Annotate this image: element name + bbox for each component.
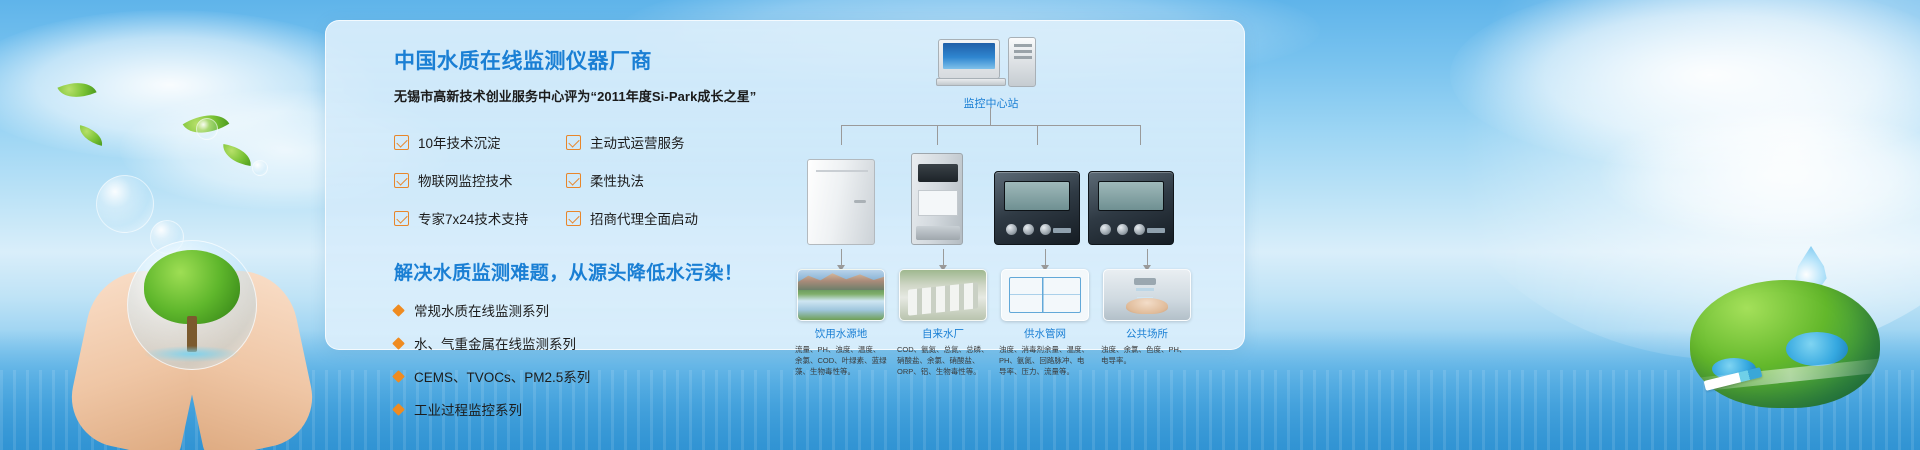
- feature-item[interactable]: 物联网监控技术: [394, 170, 566, 190]
- scene-card-title: 自来水厂: [899, 326, 987, 341]
- product-series-list: 常规水质在线监测系列 水、气重金属在线监测系列 CEMS、TVOCs、PM2.5…: [394, 300, 754, 419]
- section-title-solution: 解决水质监测难题，从源头降低水污染！: [394, 258, 754, 285]
- water-analyzer-icon: [911, 153, 963, 245]
- device-node[interactable]: [1085, 171, 1177, 245]
- controller-logo: [1147, 228, 1165, 233]
- analyzer-base: [916, 226, 960, 240]
- checkbox-icon: [566, 173, 581, 188]
- leaves-icon: [183, 103, 230, 145]
- connector-drop: [841, 125, 842, 145]
- scene-card[interactable]: 饮用水源地 流量、PH、浊度、温度、余氯、COD、叶绿素、蓝绿藻、生物毒性等。: [797, 269, 885, 378]
- scene-card-title: 供水管网: [1001, 326, 1089, 341]
- checkbox-icon: [394, 173, 409, 188]
- tree-base-water: [144, 346, 240, 362]
- checkbox-icon: [566, 211, 581, 226]
- feature-label: 专家7x24技术支持: [418, 208, 528, 228]
- controller-buttons: [1006, 224, 1051, 235]
- device-node[interactable]: [991, 171, 1083, 245]
- cloud-decoration: [0, 10, 380, 160]
- list-item-label: CEMS、TVOCs、PM2.5系列: [414, 366, 590, 386]
- leaves-icon: [221, 144, 253, 166]
- connector-drop: [1140, 125, 1141, 145]
- monitor-screen: [943, 43, 995, 69]
- checkbox-icon: [394, 211, 409, 226]
- list-item-label: 常规水质在线监测系列: [414, 300, 549, 320]
- device-node[interactable]: [803, 159, 879, 245]
- feature-label: 柔性执法: [590, 170, 644, 190]
- controller-buttons: [1100, 224, 1145, 235]
- feature-checklist: 10年技术沉淀 主动式运营服务 物联网监控技术 柔性执法 专家7x24技术支持 …: [394, 132, 754, 228]
- list-item[interactable]: CEMS、TVOCs、PM2.5系列: [394, 366, 754, 386]
- feature-label: 物联网监控技术: [418, 170, 513, 190]
- checkbox-icon: [394, 135, 409, 150]
- earth-lake: [1786, 332, 1848, 366]
- green-earth-icon: [1690, 258, 1880, 408]
- scene-card-title: 饮用水源地: [797, 326, 885, 341]
- feature-label: 招商代理全面启动: [590, 208, 698, 228]
- page-subtitle: 无锡市高新技术创业服务中心评为“2011年度Si-Park成长之星”: [394, 86, 754, 105]
- controller-lcd: [1098, 181, 1164, 211]
- monitoring-center-node[interactable]: 监控中心站: [931, 37, 1051, 111]
- feature-item[interactable]: 柔性执法: [566, 170, 756, 190]
- feature-item[interactable]: 主动式运营服务: [566, 132, 756, 152]
- bubbles-icon: [196, 118, 218, 140]
- leaves-icon: [77, 125, 106, 146]
- monitoring-center-label: 监控中心站: [931, 95, 1051, 111]
- feature-item[interactable]: 招商代理全面启动: [566, 208, 756, 228]
- feature-label: 10年技术沉淀: [418, 132, 501, 152]
- leaves-icon: [57, 74, 96, 106]
- connector-horizontal: [841, 125, 1140, 126]
- cloud-decoration: [1450, 0, 1920, 170]
- tap-water-photo-icon: [1103, 269, 1191, 321]
- bubbles-icon: [252, 160, 268, 176]
- controller-lcd: [1004, 181, 1070, 211]
- checkbox-icon: [566, 135, 581, 150]
- scene-card-desc: 流量、PH、浊度、温度、余氯、COD、叶绿素、蓝绿藻、生物毒性等。: [795, 345, 887, 378]
- device-node[interactable]: [899, 153, 975, 245]
- diamond-bullet-icon: [392, 304, 405, 317]
- feature-item[interactable]: 10年技术沉淀: [394, 132, 566, 152]
- scene-card[interactable]: 自来水厂 COD、氨氮、总氮、总磷、硝酸盐、余氯、硝酸盐、ORP、铝、生物毒性等…: [899, 269, 987, 378]
- river-photo-icon: [797, 269, 885, 321]
- scene-card-desc: 浊度、消毒剂余量、温度、PH、氨氮、回路脉冲、电导率、压力、流量等。: [999, 345, 1091, 378]
- diamond-bullet-icon: [392, 403, 405, 416]
- cloud-decoration: [1600, 110, 1920, 240]
- diamond-bullet-icon: [392, 337, 405, 350]
- list-item-label: 水、气重金属在线监测系列: [414, 333, 576, 353]
- tree-canopy: [144, 250, 240, 324]
- controller-unit-icon: [994, 171, 1080, 245]
- controller-logo: [1053, 228, 1071, 233]
- pipe-network-photo-icon: [1001, 269, 1089, 321]
- main-panel: 中国水质在线监测仪器厂商 无锡市高新技术创业服务中心评为“2011年度Si-Pa…: [325, 20, 1245, 350]
- connector-vertical: [990, 107, 991, 125]
- list-item[interactable]: 水、气重金属在线监测系列: [394, 333, 754, 353]
- scene-card[interactable]: 供水管网 浊度、消毒剂余量、温度、PH、氨氮、回路脉冲、电导率、压力、流量等。: [1001, 269, 1089, 378]
- scene-card-title: 公共场所: [1103, 326, 1191, 341]
- analyzer-display: [918, 164, 958, 182]
- keyboard-icon: [936, 78, 1006, 86]
- system-diagram: 监控中心站: [781, 37, 1221, 347]
- earth-body: [1690, 280, 1880, 408]
- controller-unit-icon: [1088, 171, 1174, 245]
- feature-item[interactable]: 专家7x24技术支持: [394, 208, 566, 228]
- connector-drop: [937, 125, 938, 145]
- scene-card[interactable]: 公共场所 浊度、余氯、色度、PH、电导率。: [1103, 269, 1191, 367]
- device-row: [781, 145, 1221, 245]
- scene-card-row: 饮用水源地 流量、PH、浊度、温度、余氯、COD、叶绿素、蓝绿藻、生物毒性等。 …: [781, 269, 1221, 349]
- list-item-label: 工业过程监控系列: [414, 399, 522, 419]
- diamond-bullet-icon: [392, 370, 405, 383]
- analyzer-panel: [918, 190, 958, 216]
- pc-tower-icon: [1008, 37, 1036, 87]
- list-item[interactable]: 工业过程监控系列: [394, 399, 754, 419]
- feature-label: 主动式运营服务: [590, 132, 685, 152]
- treatment-plant-photo-icon: [899, 269, 987, 321]
- scene-card-desc: COD、氨氮、总氮、总磷、硝酸盐、余氯、硝酸盐、ORP、铝、生物毒性等。: [897, 345, 989, 378]
- list-item[interactable]: 常规水质在线监测系列: [394, 300, 754, 320]
- scene-card-desc: 浊度、余氯、色度、PH、电导率。: [1101, 345, 1193, 367]
- hands-holding-tree-icon: [72, 220, 312, 450]
- connector-drop: [1037, 125, 1038, 145]
- water-cabinet-icon: [807, 159, 875, 245]
- monitor-icon: [938, 39, 1000, 79]
- page-title: 中国水质在线监测仪器厂商: [394, 45, 754, 75]
- computer-workstation-icon: [936, 37, 1046, 89]
- left-content-column: 中国水质在线监测仪器厂商 无锡市高新技术创业服务中心评为“2011年度Si-Pa…: [394, 45, 754, 432]
